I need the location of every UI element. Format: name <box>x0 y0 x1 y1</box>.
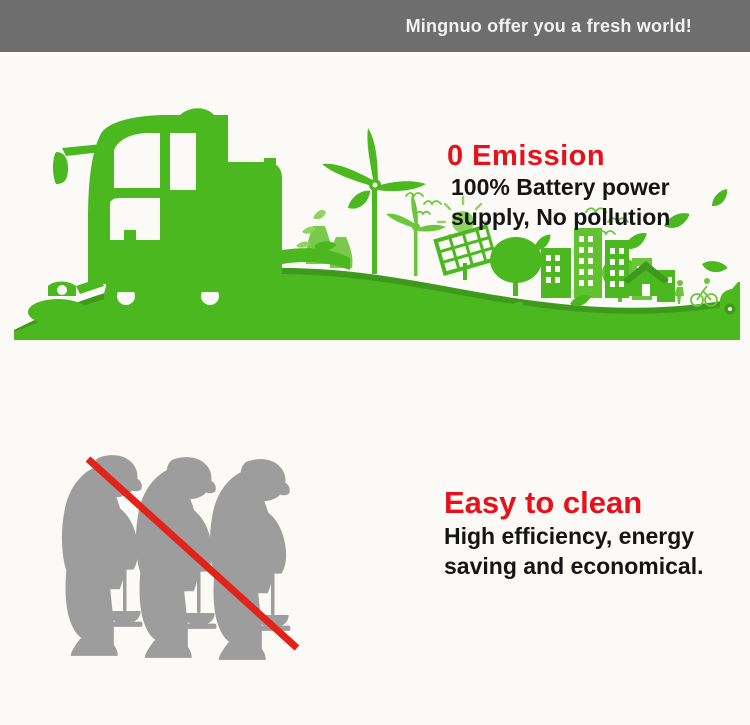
cyclist-icon <box>691 278 717 306</box>
feature-body-emission-line2: supply, No pollution <box>447 202 697 232</box>
feature-body-emission-line1: 100% Battery power <box>447 172 697 202</box>
pedestrian-icon <box>674 280 684 304</box>
electric-car-icon <box>720 270 740 315</box>
feature-body-clean-line2: saving and economical. <box>444 551 712 581</box>
manual-sweepers-illustration <box>55 432 325 664</box>
feature-block-clean: Easy to clean High efficiency, energy sa… <box>444 485 744 581</box>
tree-icon <box>490 237 542 296</box>
wind-turbine-small-icon <box>386 194 446 276</box>
feature-body-clean-line1: High efficiency, energy <box>444 521 712 551</box>
product-feature-banner: Mingnuo offer you a fresh world! <box>0 0 750 725</box>
feature-heading-clean: Easy to clean <box>444 485 744 521</box>
manual-sweepers-svg <box>55 432 325 664</box>
feature-block-emission: 0 Emission 100% Battery power supply, No… <box>447 140 747 232</box>
header-tagline: Mingnuo offer you a fresh world! <box>406 0 692 52</box>
bent-worker-silhouette <box>136 457 216 658</box>
bent-worker-silhouette <box>62 455 142 656</box>
solar-panel-icon <box>433 224 497 280</box>
header-bar: Mingnuo offer you a fresh world! <box>0 0 750 52</box>
feature-heading-emission: 0 Emission <box>447 140 747 172</box>
